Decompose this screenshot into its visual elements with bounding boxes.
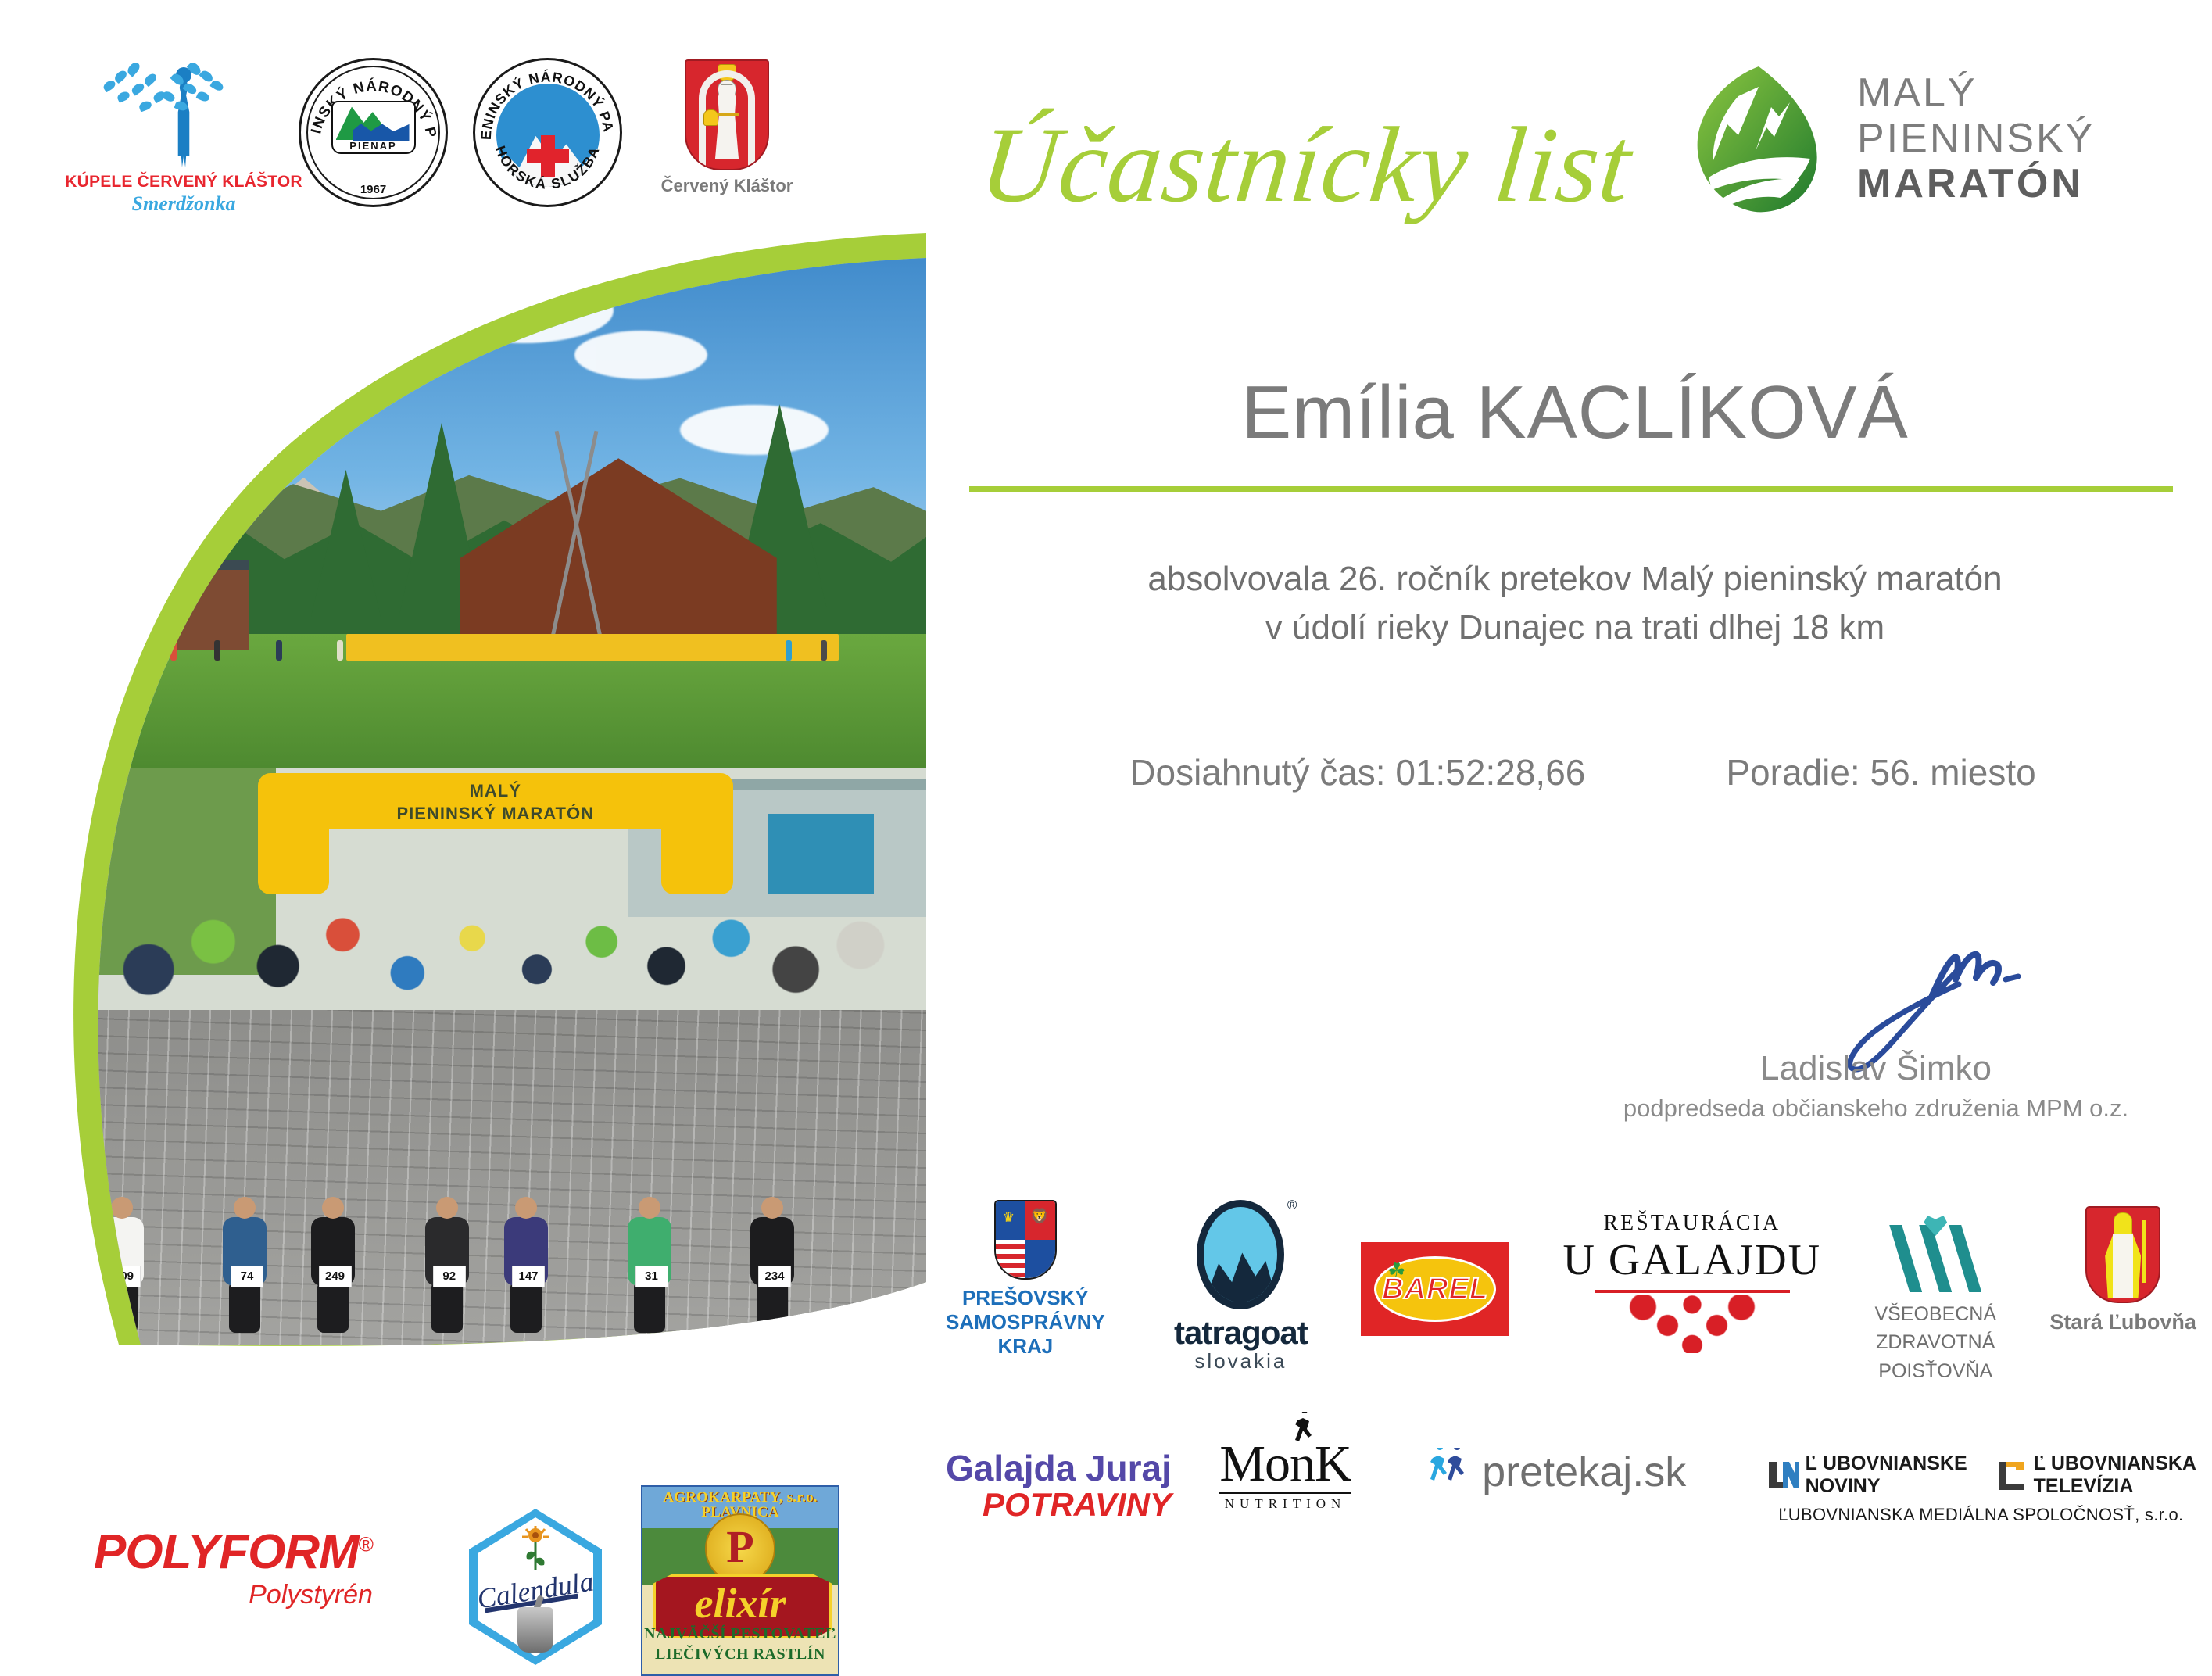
top-partner-logos: KÚPELE ČERVENÝ KLÁŠTOR Smerdžonka PIENIN… — [86, 55, 883, 235]
runner: 74 — [223, 1157, 265, 1333]
psk-coat-of-arms-icon: ♛ 🦁 — [994, 1200, 1057, 1280]
svg-text:HORSKÁ SLUŽBA: HORSKÁ SLUŽBA — [492, 144, 603, 192]
polyform-sub: Polystyrén — [94, 1581, 373, 1608]
runner: 234 — [750, 1141, 794, 1333]
page-title: Účastnícky list — [975, 111, 1637, 219]
folk-ornament-icon — [1610, 1295, 1774, 1353]
mpm-line1: MALÝ — [1857, 70, 2095, 116]
vszp-label: VŠEOBECNÁ ZDRAVOTNÁ POISŤOVŇA — [1874, 1300, 1996, 1385]
registered-mark: ® — [1287, 1198, 1297, 1212]
logo-pretekaj-sk: pretekaj.sk — [1430, 1448, 1686, 1496]
ug-main-label: U GALAJDU — [1562, 1237, 1821, 1284]
pienap-roundel-icon: PIENINSKÝ NÁRODNÝ PARK PIENAP 1967 — [299, 58, 448, 207]
elixir-sub2: LIEČIVÝCH RASTLÍN — [642, 1645, 838, 1663]
logo-horska-sluzba: PIENINSKÝ NÁRODNÝ PARK HORSKÁ SLUŽBA — [473, 55, 622, 207]
body-line-2: v údolí rieky Dunajec na trati dlhej 18 … — [981, 603, 2169, 652]
pretekaj-word: pretekaj.sk — [1482, 1451, 1686, 1493]
logo-restauracia-u-galajdu: REŠTAURÁCIA U GALAJDU — [1562, 1212, 1821, 1353]
sponsor-row-secondary: Galajda Juraj POTRAVINY MonK NUTRITION p… — [946, 1438, 2196, 1548]
logo-polyform: POLYFORM® Polystyrén — [94, 1528, 373, 1608]
tatragoat-word: tatragoat — [1174, 1316, 1308, 1350]
elixir-sub1: NAJVÄČŠÍ PESTOVATEĽ — [642, 1624, 838, 1643]
logo-galajda-juraj-potraviny: Galajda Juraj POTRAVINY — [946, 1449, 1172, 1523]
logo-cerveny-klastor: Červený Kláštor — [649, 55, 805, 195]
vszp-icon — [1889, 1216, 1981, 1292]
signatory-role: podpredseda občianskeho združenia MPM o.… — [1579, 1094, 2173, 1123]
signature-block: Ladislav Šimko podpredseda občianskeho z… — [1579, 958, 2173, 1123]
cerveny-klastor-label: Červený Kláštor — [661, 177, 793, 195]
monk-word: MonK — [1219, 1438, 1351, 1490]
runner: 147 — [504, 1145, 548, 1333]
logo-calendula: Calendula — [469, 1509, 602, 1665]
svg-text:PIENINSKÝ NÁRODNÝ PARK: PIENINSKÝ NÁRODNÝ PARK — [301, 60, 439, 139]
logo-monk-nutrition: MonK NUTRITION — [1219, 1438, 1351, 1510]
logo-vseobecna-zdravotna-poistovna: VŠEOBECNÁ ZDRAVOTNÁ POISŤOVŇA — [1874, 1216, 1996, 1385]
logo-kupele-cerveny-klastor: KÚPELE ČERVENÝ KLÁŠTOR Smerdžonka — [86, 55, 281, 216]
body-line-1: absolvovala 26. ročník pretekov Malý pie… — [981, 555, 2169, 603]
stara-lubovna-label: Stará Ľubovňa — [2049, 1311, 2196, 1334]
svg-text:PIENINSKÝ NÁRODNÝ PARK: PIENINSKÝ NÁRODNÝ PARK — [475, 60, 617, 141]
participant-name: Emília KACLÍKOVÁ — [981, 374, 2169, 453]
two-runners-icon — [1430, 1448, 1474, 1496]
ln-mark-icon — [1766, 1459, 1799, 1492]
ug-top-label: REŠTAURÁCIA — [1603, 1212, 1781, 1234]
psk-label: PREŠOVSKÝ SAMOSPRÁVNY KRAJ — [946, 1286, 1105, 1359]
runner: 92 — [425, 1165, 466, 1333]
signatory-name: Ladislav Šimko — [1579, 1050, 2173, 1087]
spa-angel-icon — [94, 55, 274, 172]
logo-kck-line1: KÚPELE ČERVENÝ KLÁŠTOR — [65, 174, 302, 191]
logo-tatragoat: ® tatragoat slovakia — [1174, 1200, 1308, 1373]
cerveny-klastor-coat-of-arms-icon — [685, 59, 769, 170]
photo-amphitheatre — [47, 235, 926, 768]
runner: 31 — [628, 1142, 673, 1333]
mpm-line3: MARATÓN — [1857, 161, 2095, 206]
placement: Poradie: 56. miesto — [1726, 754, 2035, 790]
ug-rule — [1595, 1290, 1790, 1293]
runner-bib: 31 — [635, 1266, 668, 1287]
monk-sub: NUTRITION — [1219, 1497, 1351, 1510]
event-photo-collage: MALÝ PIENINSKÝ MARATÓN 209 74 249 — [47, 235, 926, 1345]
finish-time: Dosiahnutý čas: 01:52:28,66 — [1129, 754, 1585, 790]
lt-mark-icon — [1994, 1459, 2027, 1492]
runner: 249 — [311, 1139, 355, 1333]
arch-line2: PIENINSKÝ MARATÓN — [258, 803, 733, 825]
photo-race-start: MALÝ PIENINSKÝ MARATÓN 209 74 249 — [47, 768, 926, 1345]
logo-agrokarpaty-elixir: AGROKARPATY, s.r.o. PLAVNICA P elixír NA… — [641, 1485, 839, 1676]
polyform-word: POLYFORM® — [94, 1528, 373, 1577]
lmedia-caption: ĽUBOVNIANSKA MEDIÁLNA SPOLOČNOSŤ, s.r.o. — [1766, 1506, 2196, 1524]
pienap-year: 1967 — [301, 184, 446, 195]
sponsor-row-primary: ♛ 🦁 PREŠOVSKÝ SAMOSPRÁVNY KRAJ ® tatrago… — [946, 1200, 2196, 1419]
running-figure-icon — [1292, 1412, 1315, 1448]
runner-bib: 234 — [758, 1266, 791, 1287]
lubovnianske-noviny: Ľ UBOVNIANSKE NOVINY — [1766, 1452, 1967, 1497]
runner-bib: 74 — [231, 1266, 263, 1287]
mpm-line2: PIENINSKÝ — [1857, 116, 2095, 161]
logo-kck-line2: Smerdžonka — [132, 193, 236, 216]
arch-line1: MALÝ — [258, 780, 733, 803]
runner-bib: 92 — [433, 1266, 466, 1287]
galajda-line1: Galajda Juraj — [946, 1449, 1172, 1487]
logo-lubovnianska-medialna-spolocnost: Ľ UBOVNIANSKE NOVINY Ľ UBOVNIANSKA TELEV… — [1766, 1452, 2196, 1524]
result-stats: Dosiahnutý čas: 01:52:28,66 Poradie: 56.… — [981, 754, 2185, 790]
pienap-word: PIENAP — [333, 141, 414, 151]
lubovnianska-televizia: Ľ UBOVNIANSKA TELEVÍZIA — [1994, 1452, 2196, 1497]
certificate-body-text: absolvovala 26. ročník pretekov Malý pie… — [981, 555, 2169, 653]
maly-pieninsky-maraton-logo: MALÝ PIENINSKÝ MARATÓN — [1680, 48, 2165, 228]
clover-icon: ☘ — [1387, 1260, 1408, 1280]
logo-barel: ☘ BAREL — [1361, 1242, 1509, 1336]
galajda-line2: POTRAVINY — [946, 1487, 1172, 1523]
green-divider-rule — [969, 486, 2173, 492]
runner-bib: 249 — [319, 1266, 352, 1287]
stara-lubovna-coat-of-arms-icon — [2085, 1206, 2160, 1303]
elixir-word: elixír — [642, 1582, 838, 1624]
certificate-page: KÚPELE ČERVENÝ KLÁŠTOR Smerdžonka PIENIN… — [0, 0, 2212, 1563]
mpm-mountain-leaf-icon — [1680, 60, 1837, 217]
horska-sluzba-roundel-icon: PIENINSKÝ NÁRODNÝ PARK HORSKÁ SLUŽBA — [473, 58, 622, 207]
logo-pieninsky-narodny-park: PIENINSKÝ NÁRODNÝ PARK PIENAP 1967 — [299, 55, 448, 207]
tatragoat-icon: ® — [1197, 1200, 1284, 1309]
agrokarpaty-monogram: P — [726, 1524, 753, 1570]
runner-bib: 147 — [512, 1266, 545, 1287]
barel-badge-icon: ☘ BAREL — [1361, 1242, 1509, 1336]
logo-stara-lubovna: Stará Ľubovňa — [2049, 1206, 2196, 1334]
logo-presovsky-samospravny-kraj: ♛ 🦁 PREŠOVSKÝ SAMOSPRÁVNY KRAJ — [946, 1200, 1105, 1359]
tatragoat-sub: slovakia — [1194, 1350, 1287, 1373]
